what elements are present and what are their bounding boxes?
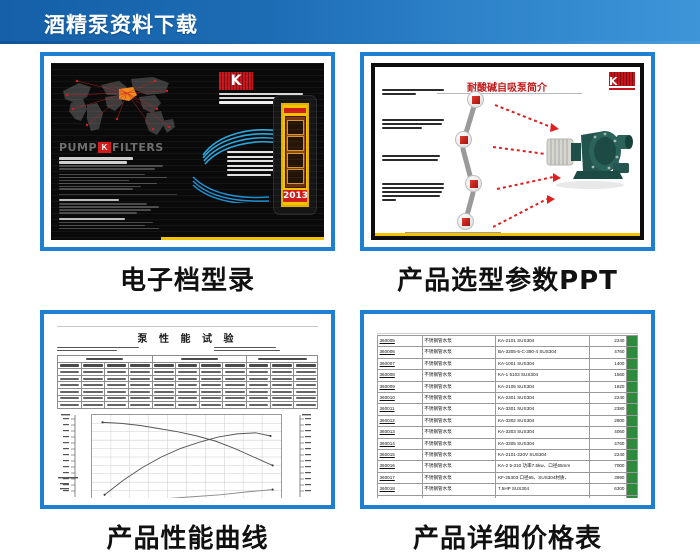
catalog-cover-art: PUMP K FILTERS <box>51 63 324 240</box>
performance-chart <box>57 413 318 494</box>
cell-model: 7.5HP SUS304 <box>496 484 589 495</box>
table-row: 360019不锈钢管水泵5HP SUS3044900 <box>378 495 638 498</box>
header-group-calculated <box>152 355 247 362</box>
ppt-paragraph-4 <box>382 183 444 203</box>
ppt-node-icon-2 <box>455 131 472 148</box>
cell-code: 360014 <box>378 438 423 449</box>
cell-price: 4900 <box>589 495 627 498</box>
card-ppt-frame[interactable]: 耐酸碱自吸泵简介 K <box>360 52 655 251</box>
cell-price: 2240 <box>589 393 627 404</box>
page-title: 酒精泵资料下载 <box>44 9 198 39</box>
cell-status-marker <box>627 461 638 472</box>
table-row <box>58 402 318 409</box>
cell-price: 2800 <box>589 415 627 426</box>
table-row: 360009不锈钢管水泵KA-2105 SUS3041820 <box>378 381 638 392</box>
card-catalog[interactable]: PUMP K FILTERS <box>40 52 360 297</box>
performance-table-body <box>58 369 318 409</box>
cell-status-marker <box>627 415 638 426</box>
cell-model: KA-1001 SUS304 <box>496 358 589 369</box>
cell-code: 360011 <box>378 404 423 415</box>
sheet-title: 泵 性 能 试 验 <box>57 330 318 345</box>
table-row: 360006不锈钢管水泵BA-3305-5-C-380-4 SUS3044760 <box>378 347 638 358</box>
cell-status-marker <box>627 438 638 449</box>
cell-name: 不锈钢管水泵 <box>422 358 496 369</box>
cell-status-marker <box>627 336 638 347</box>
pump-product-image <box>543 113 637 191</box>
cell-price: 1400 <box>589 358 627 369</box>
header-group-measured <box>58 355 153 362</box>
ppt-hotline-bar <box>609 88 635 90</box>
table-row: 360018不锈钢管水泵7.5HP SUS3046300 <box>378 484 638 495</box>
sheet-top-rule <box>57 326 318 327</box>
cell-code: 360005 <box>378 336 423 347</box>
card-catalog-frame[interactable]: PUMP K FILTERS <box>40 52 335 251</box>
cell-code: 360012 <box>378 415 423 426</box>
price-sheet-header <box>377 326 638 334</box>
caption-performance-curve: 产品性能曲线 <box>40 518 335 555</box>
col-head-6 <box>176 362 200 369</box>
price-table-body: 360005不锈钢管水泵KA-2101 SUS3042240360006不锈钢管… <box>378 336 638 499</box>
cell-model: KA-2105 SUS304 <box>496 381 589 392</box>
card-performance-curve[interactable]: 泵 性 能 试 验 <box>40 310 360 555</box>
chart-secondary-axis-label <box>57 476 83 492</box>
card-price-table[interactable]: 360005不锈钢管水泵KA-2101 SUS3042240360006不锈钢管… <box>360 310 680 555</box>
cell-price: 6300 <box>589 484 627 495</box>
table-row <box>58 388 318 395</box>
cell-code: 360018 <box>378 484 423 495</box>
caption-price-table: 产品详细价格表 <box>360 518 655 555</box>
sheet-meta-left <box>57 347 182 353</box>
cell-name: 不锈钢管水泵 <box>422 336 496 347</box>
page-header: 酒精泵资料下载 <box>0 0 700 44</box>
card-grid: PUMP K FILTERS <box>0 48 700 552</box>
cell-code: 360008 <box>378 370 423 381</box>
sheet-meta-right <box>214 347 318 353</box>
cell-model: KA-3302 SUS304 <box>496 415 589 426</box>
cell-price: 1560 <box>589 370 627 381</box>
col-head-10 <box>270 362 294 369</box>
cell-name: 不锈钢管水泵 <box>422 495 496 498</box>
col-head-3 <box>105 362 129 369</box>
cell-name: 不锈钢管水泵 <box>422 370 496 381</box>
ppt-yellow-strip <box>375 233 640 236</box>
cell-price: 7000 <box>589 461 627 472</box>
sheet-meta <box>57 347 318 353</box>
price-sheet: 360005不锈钢管水泵KA-2101 SUS3042240360006不锈钢管… <box>371 321 644 498</box>
col-head-2 <box>81 362 105 369</box>
cell-name: 不锈钢管水泵 <box>422 484 496 495</box>
col-head-8 <box>223 362 247 369</box>
table-row <box>58 382 318 389</box>
cell-status-marker <box>627 404 638 415</box>
cell-model: KA-2101-220V SUS304 <box>496 450 589 461</box>
cell-model: KF-25303 口径65、SUS304材质、 <box>496 472 589 483</box>
table-row: 360013不锈钢管水泵KA-3303 SUS3044060 <box>378 427 638 438</box>
ppt-paragraph-2 <box>382 119 444 131</box>
table-row: 360015不锈钢管水泵KA-2101-220V SUS3042240 <box>378 450 638 461</box>
table-header-row <box>58 362 318 369</box>
ppt-brand-logo-icon: K <box>609 72 635 86</box>
cell-name: 不锈钢管水泵 <box>422 347 496 358</box>
table-row: 360012不锈钢管水泵KA-3302 SUS3042800 <box>378 415 638 426</box>
card-curve-thumbnail: 泵 性 能 试 验 <box>51 321 324 498</box>
table-row: 360008不锈钢管水泵KA-1 5103 SUS3041560 <box>378 370 638 381</box>
cell-code: 360013 <box>378 427 423 438</box>
cell-name: 不锈钢管水泵 <box>422 438 496 449</box>
cell-status-marker <box>627 472 638 483</box>
cell-status-marker <box>627 393 638 404</box>
table-header-group-row <box>58 355 318 362</box>
table-row <box>58 395 318 402</box>
performance-test-sheet: 泵 性 能 试 验 <box>51 321 324 498</box>
card-ppt-thumbnail: 耐酸碱自吸泵简介 K <box>371 63 644 240</box>
table-row <box>58 375 318 382</box>
cell-price: 2240 <box>589 450 627 461</box>
table-row: 360016不锈钢管水泵KA-2 5-310 功率7.5kw、口径65mm700… <box>378 461 638 472</box>
cell-name: 不锈钢管水泵 <box>422 427 496 438</box>
performance-table-head <box>58 355 318 368</box>
cell-model: KA-2301 SUS304 <box>496 393 589 404</box>
page-root: 酒精泵资料下载 <box>0 0 700 552</box>
col-head-4 <box>128 362 152 369</box>
cell-name: 不锈钢管水泵 <box>422 461 496 472</box>
col-head-1 <box>58 362 82 369</box>
performance-data-table <box>57 355 318 409</box>
cell-model: 5HP SUS304 <box>496 495 589 498</box>
table-row: 360010不锈钢管水泵KA-2301 SUS3042240 <box>378 393 638 404</box>
ppt-node-icon-3 <box>465 175 482 192</box>
cell-status-marker <box>627 484 638 495</box>
cell-model: KA-2 5-310 功率7.5kw、口径65mm <box>496 461 589 472</box>
cell-price: 1820 <box>589 381 627 392</box>
col-head-9 <box>247 362 271 369</box>
col-head-5 <box>152 362 176 369</box>
cell-code: 360009 <box>378 381 423 392</box>
price-data-table: 360005不锈钢管水泵KA-2101 SUS3042240360006不锈钢管… <box>377 335 638 498</box>
table-row: 360011不锈钢管水泵KA-3301 SUS3042380 <box>378 404 638 415</box>
cell-model: KA-1 5103 SUS304 <box>496 370 589 381</box>
caption-ppt: 产品选型参数PPT <box>360 260 655 297</box>
chart-right-axis <box>294 413 316 498</box>
cell-model: BA-3305-5-C-380-4 SUS304 <box>496 347 589 358</box>
cell-price: 4760 <box>589 438 627 449</box>
cell-status-marker <box>627 427 638 438</box>
ppt-paragraph-1 <box>382 89 444 97</box>
table-row: 360005不锈钢管水泵KA-2101 SUS3042240 <box>378 336 638 347</box>
table-row <box>58 369 318 376</box>
col-head-11 <box>294 362 318 369</box>
cell-name: 不锈钢管水泵 <box>422 393 496 404</box>
table-row: 360014不锈钢管水泵KA-3305 SUS3044760 <box>378 438 638 449</box>
cell-code: 360016 <box>378 461 423 472</box>
cell-status-marker <box>627 347 638 358</box>
cell-code: 360017 <box>378 472 423 483</box>
ppt-node-icon-1 <box>467 91 484 108</box>
card-catalog-thumbnail: PUMP K FILTERS <box>51 63 324 240</box>
table-row: 360007不锈钢管水泵KA-1001 SUS3041400 <box>378 358 638 369</box>
cell-model: KA-3301 SUS304 <box>496 404 589 415</box>
cell-status-marker <box>627 381 638 392</box>
caption-catalog: 电子档型录 <box>40 260 335 297</box>
cell-price: 3990 <box>589 472 627 483</box>
cell-name: 不锈钢管水泵 <box>422 450 496 461</box>
cell-code: 360007 <box>378 358 423 369</box>
cell-name: 不锈钢管水泵 <box>422 472 496 483</box>
cell-name: 不锈钢管水泵 <box>422 404 496 415</box>
cell-code: 360015 <box>378 450 423 461</box>
cell-status-marker <box>627 370 638 381</box>
card-curve-frame[interactable]: 泵 性 能 试 验 <box>40 310 335 509</box>
ppt-chain-connector <box>449 91 495 233</box>
cell-status-marker <box>627 358 638 369</box>
cell-status-marker <box>627 450 638 461</box>
ppt-paragraph-3 <box>382 155 444 163</box>
card-price-thumbnail: 360005不锈钢管水泵KA-2101 SUS3042240360006不锈钢管… <box>371 321 644 498</box>
ppt-logo-letter: K <box>609 75 618 88</box>
cell-price: 2380 <box>589 404 627 415</box>
cell-price: 4060 <box>589 427 627 438</box>
ppt-slide-outer: 耐酸碱自吸泵简介 K <box>371 63 644 240</box>
card-price-frame[interactable]: 360005不锈钢管水泵KA-2101 SUS3042240360006不锈钢管… <box>360 310 655 509</box>
cell-model: KA-3303 SUS304 <box>496 427 589 438</box>
cell-model: KA-2101 SUS304 <box>496 336 589 347</box>
cover-texture-overlay <box>51 63 324 240</box>
cell-name: 不锈钢管水泵 <box>422 381 496 392</box>
ppt-node-icon-4 <box>457 213 474 230</box>
cell-price: 4760 <box>589 347 627 358</box>
cell-code: 360019 <box>378 495 423 498</box>
header-group-converted <box>247 355 318 362</box>
cell-price: 2240 <box>589 336 627 347</box>
cell-status-marker <box>627 495 638 498</box>
cell-model: KA-3305 SUS304 <box>496 438 589 449</box>
chart-plot-area <box>91 414 282 498</box>
cell-code: 360010 <box>378 393 423 404</box>
ppt-slide: 耐酸碱自吸泵简介 K <box>375 67 640 236</box>
col-head-7 <box>199 362 223 369</box>
cell-name: 不锈钢管水泵 <box>422 415 496 426</box>
card-ppt[interactable]: 耐酸碱自吸泵简介 K <box>360 52 680 297</box>
table-row: 360017不锈钢管水泵KF-25303 口径65、SUS304材质、3990 <box>378 472 638 483</box>
cell-code: 360006 <box>378 347 423 358</box>
